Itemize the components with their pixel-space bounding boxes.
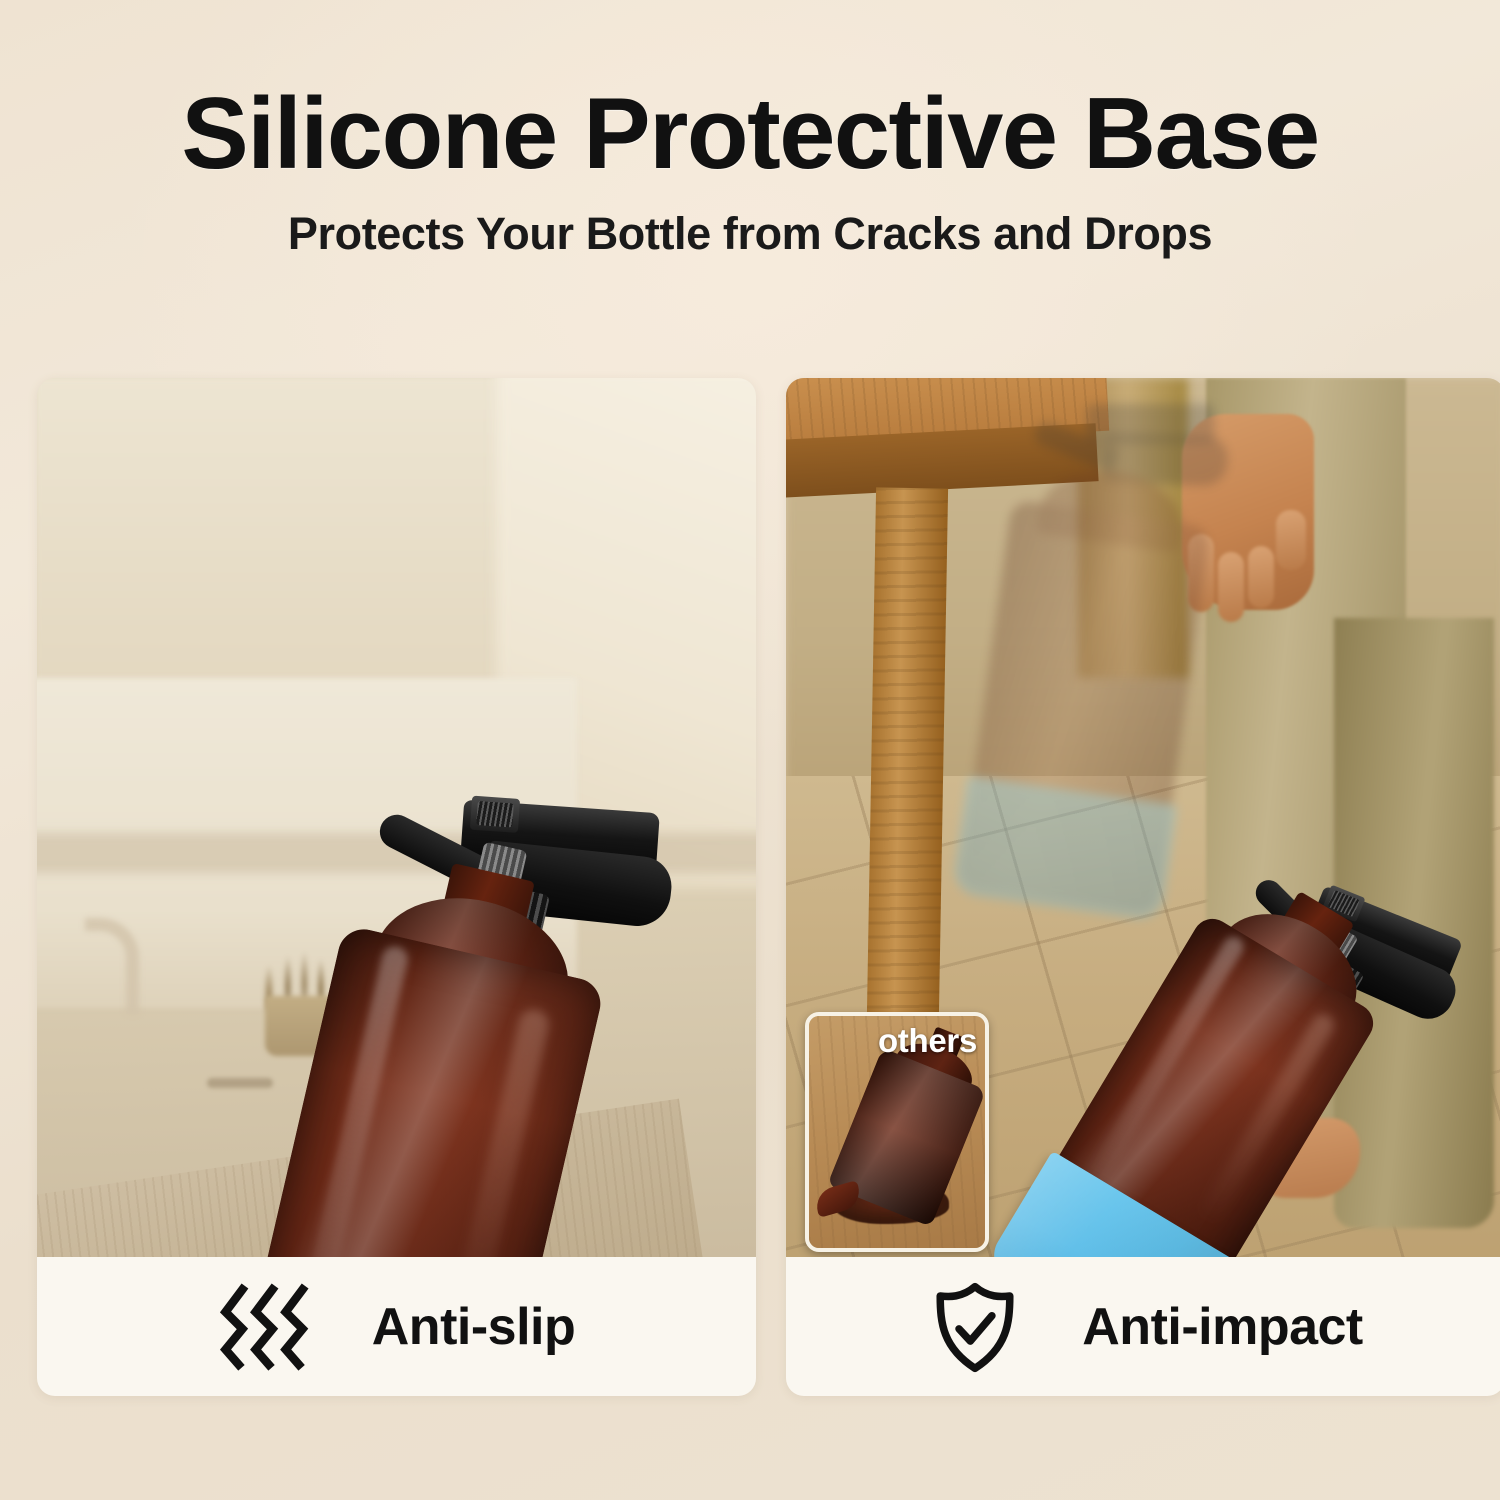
photo-anti-slip — [37, 378, 756, 1257]
caption-label-anti-impact: Anti-impact — [1082, 1297, 1363, 1357]
spill-droplet — [839, 1212, 849, 1220]
feature-card-anti-impact: others Anti-impact — [786, 378, 1500, 1396]
thumb — [1276, 510, 1306, 570]
others-comparison-inset: others — [805, 1012, 989, 1252]
spill-droplet — [969, 1194, 982, 1204]
header: Silicone Protective Base Protects Your B… — [0, 0, 1500, 360]
feature-card-anti-slip: Anti-slip — [37, 378, 756, 1396]
spill-droplet — [935, 1222, 944, 1230]
others-label: others — [878, 1022, 977, 1060]
product-infographic: Silicone Protective Base Protects Your B… — [0, 0, 1500, 1500]
shield-check-icon — [928, 1280, 1022, 1374]
finger — [1248, 546, 1274, 608]
caption-label-anti-slip: Anti-slip — [372, 1297, 575, 1357]
photo-anti-impact: others — [786, 378, 1500, 1257]
spill-droplet — [871, 1228, 883, 1237]
kitchen-scene — [37, 378, 756, 1257]
caption-anti-slip: Anti-slip — [37, 1257, 756, 1396]
others-scene: others — [809, 1016, 985, 1248]
caption-anti-impact: Anti-impact — [786, 1257, 1500, 1396]
wave-lines-icon — [218, 1280, 312, 1374]
page-subtitle: Protects Your Bottle from Cracks and Dro… — [0, 211, 1500, 256]
page-title: Silicone Protective Base — [0, 84, 1500, 185]
finger — [1218, 552, 1244, 622]
drop-scene: others — [786, 378, 1500, 1257]
cabinet-handle — [207, 1078, 273, 1088]
sprayer-nozzle-grill — [476, 801, 514, 827]
